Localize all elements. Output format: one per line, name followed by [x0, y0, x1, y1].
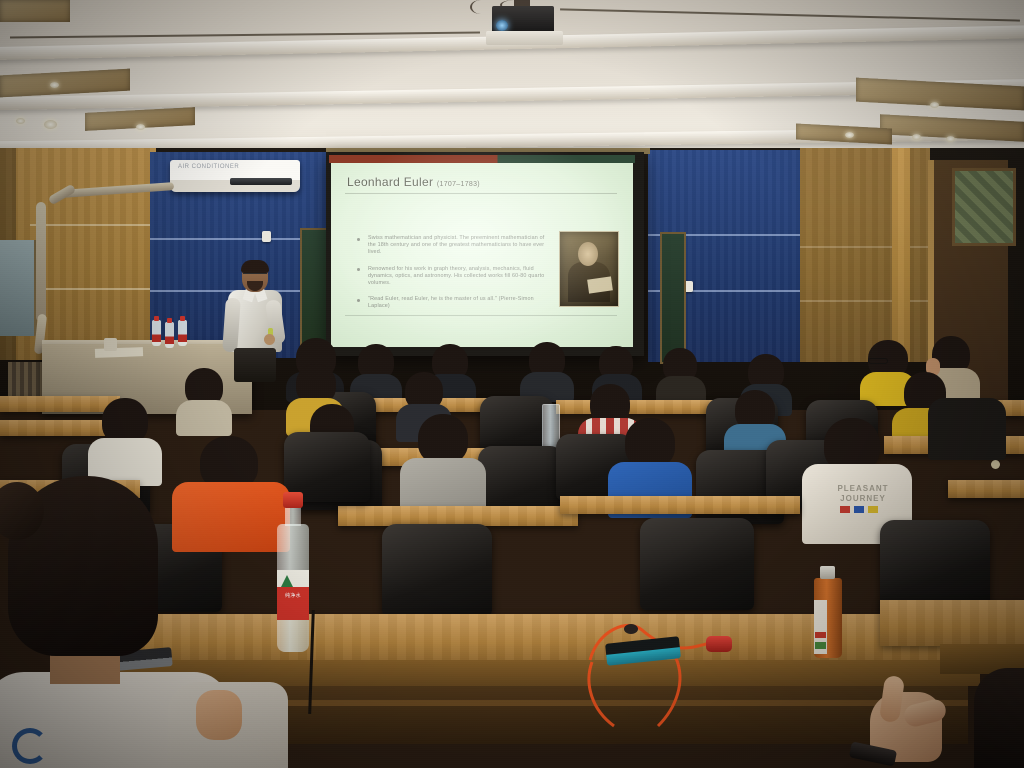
- ceiling-tile: [0, 0, 70, 22]
- tea-label-stripe: [815, 642, 826, 649]
- ceiling: [0, 0, 1024, 165]
- ceiling-light: [946, 136, 955, 142]
- cup-on-desk: [104, 338, 117, 351]
- tea-bottle: [812, 566, 844, 658]
- chair: [382, 524, 492, 616]
- earbud-icon: [624, 624, 638, 634]
- tea-label-stripe: [815, 632, 826, 638]
- bottle-brand-text: 纯净水: [277, 593, 309, 599]
- projector-base: [486, 31, 563, 45]
- lecturer-hair: [241, 260, 269, 273]
- ceiling-light: [845, 132, 854, 138]
- ceiling-wire: [560, 8, 1020, 21]
- ceiling-light: [44, 120, 57, 129]
- tshirt-text-line1: PLEASANT: [832, 484, 894, 493]
- desk-row4: [560, 496, 800, 514]
- bottle-cap: [283, 492, 303, 508]
- student-row3: [88, 398, 162, 482]
- ceiling-light: [16, 118, 25, 124]
- door-frame: [892, 148, 910, 362]
- glasses-icon: [868, 358, 888, 364]
- projector-lens-icon: [496, 20, 508, 31]
- desk-row4: [948, 480, 1024, 498]
- ac-pipe: [22, 186, 172, 356]
- slide-title-text: Leonhard Euler: [347, 175, 433, 189]
- ceiling-projector: [486, 6, 566, 46]
- slide-bullet: Swiss mathematician and physicist. The p…: [357, 235, 547, 257]
- slide-divider: [345, 193, 617, 194]
- glasses-icon: [243, 273, 267, 278]
- student-row3: [928, 398, 1006, 460]
- student-head: [418, 414, 468, 464]
- door-knob-icon[interactable]: [991, 460, 1000, 469]
- slide-title-years: (1707–1783): [437, 181, 480, 188]
- foreground-head-right: [974, 668, 1024, 768]
- lecture-hall-photo: AIR CONDITIONER Leonhard Euler (1707–178…: [0, 0, 1024, 768]
- wall-wood-panel-right: [800, 148, 930, 362]
- student-row1: [656, 348, 706, 404]
- podium-water-bottle: [152, 320, 161, 346]
- tshirt-flag-icon: [854, 506, 864, 513]
- ceiling-light: [50, 82, 59, 88]
- lecturer-hand: [264, 334, 275, 345]
- air-conditioner: AIR CONDITIONER: [170, 160, 300, 192]
- chair: [640, 518, 754, 610]
- ceiling-light: [136, 124, 145, 130]
- student-row1: [520, 342, 574, 400]
- papers-on-desk: [95, 347, 143, 358]
- chalkboard-right: [660, 232, 686, 364]
- student-head: [625, 418, 675, 468]
- lecturer-trousers: [234, 348, 276, 382]
- foreground-student-hand: [196, 690, 242, 740]
- tree-logo-icon: [281, 575, 293, 587]
- lecturer: [224, 262, 286, 380]
- slide-bottom-divider: [345, 315, 617, 316]
- water-bottle: 纯净水: [272, 492, 314, 654]
- podium-water-bottle: [165, 322, 174, 348]
- wall-panel-seam: [800, 300, 930, 302]
- tshirt-flag-icon: [868, 506, 878, 513]
- red-accessory: [706, 636, 732, 652]
- ceiling-light: [930, 102, 939, 108]
- right-desk: [880, 600, 1024, 646]
- portrait-face: [578, 242, 598, 266]
- student-row2: [176, 368, 232, 434]
- screen-top-bar: [329, 155, 635, 163]
- foreground-hand: [860, 672, 970, 768]
- wall-socket: [262, 231, 271, 242]
- tshirt-text-line2: JOURNEY: [830, 494, 896, 503]
- bottle-neck: [285, 506, 301, 526]
- shirt-logo-icon: [12, 728, 48, 764]
- door-transom-window: [952, 168, 1016, 246]
- desk-row4: [338, 506, 578, 526]
- tshirt-flag-icon: [840, 506, 850, 513]
- student-body: [176, 400, 232, 436]
- tea-bottle-cap: [820, 566, 835, 579]
- slide-bullet: Renowned for his work in graph theory, a…: [357, 266, 547, 288]
- presentation-slide: Leonhard Euler (1707–1783) Swiss mathema…: [331, 163, 633, 347]
- ceiling-tile: [0, 69, 130, 98]
- euler-portrait-image: [559, 231, 619, 307]
- student-body: [928, 398, 1006, 460]
- slide-bullet: "Read Euler, read Euler, he is the maste…: [357, 296, 547, 310]
- wall-panel-seam: [800, 246, 930, 248]
- student-gray-shirt: [400, 414, 486, 512]
- ac-vent: [230, 178, 292, 185]
- slide-bullet-list: Swiss mathematician and physicist. The p…: [357, 235, 547, 320]
- podium-water-bottle: [178, 320, 187, 346]
- slide-title: Leonhard Euler (1707–1783): [347, 175, 480, 189]
- chair: [880, 520, 990, 612]
- ceiling-light: [912, 134, 921, 140]
- ac-brand-label: AIR CONDITIONER: [178, 164, 239, 170]
